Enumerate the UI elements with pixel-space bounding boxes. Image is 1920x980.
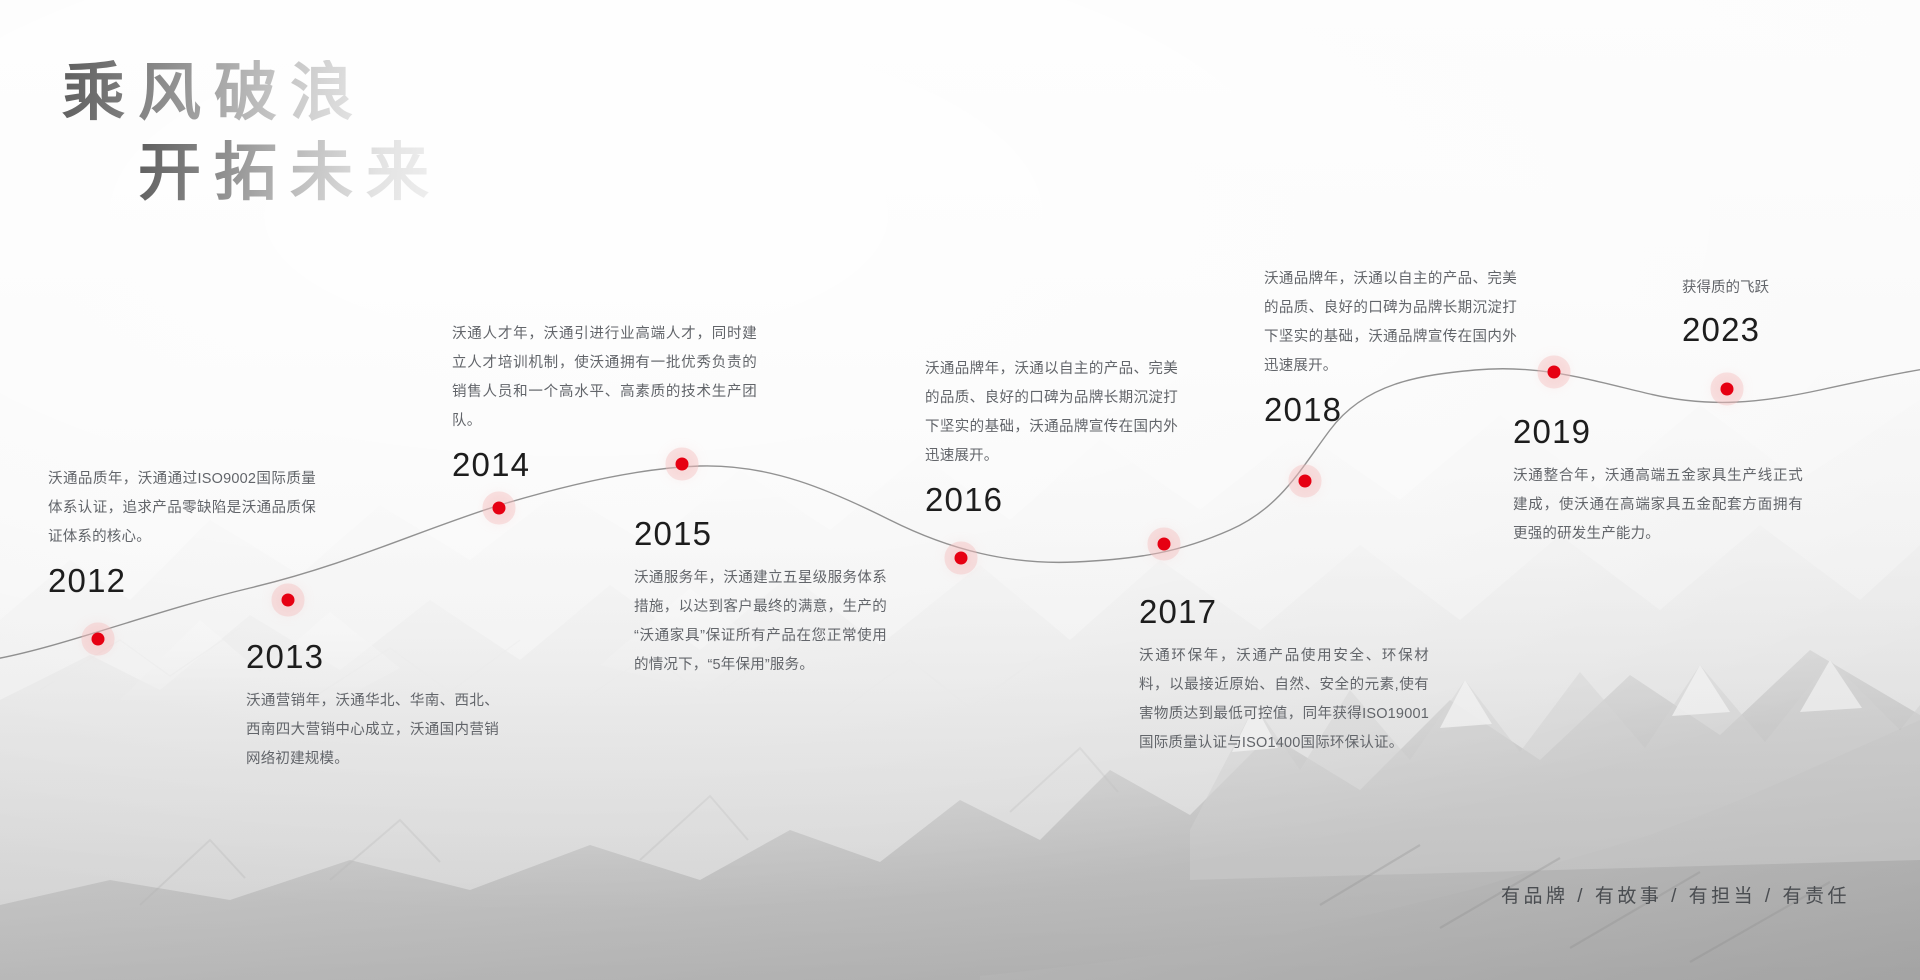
milestone-2019: 2019 沃通整合年，沃通高端五金家具生产线正式建成，使沃通在高端家具五金配套方… bbox=[1513, 415, 1803, 549]
timeline-node-2016[interactable] bbox=[955, 552, 968, 565]
headline-line-1: 乘风破浪 bbox=[62, 60, 442, 126]
milestone-2012: 沃通品质年，沃通通过ISO9002国际质量体系认证，追求产品零缺陷是沃通品质保证… bbox=[48, 465, 316, 597]
milestone-2014-description: 沃通人才年，沃通引进行业高端人才，同时建立人才培训机制，使沃通拥有一批优秀负责的… bbox=[452, 320, 757, 436]
brand-tagline: 有品牌 / 有故事 / 有担当 / 有责任 bbox=[1501, 881, 1850, 908]
milestone-2018: 沃通品牌年，沃通以自主的产品、完美的品质、良好的口碑为品牌长期沉淀打下坚实的基础… bbox=[1264, 265, 1517, 426]
timeline-node-2023[interactable] bbox=[1721, 383, 1734, 396]
timeline-node-2019[interactable] bbox=[1548, 366, 1561, 379]
milestone-2016-year: 2016 bbox=[925, 483, 1178, 516]
milestone-2012-year: 2012 bbox=[48, 564, 316, 597]
milestone-2016: 沃通品牌年，沃通以自主的产品、完美的品质、良好的口碑为品牌长期沉淀打下坚实的基础… bbox=[925, 355, 1178, 516]
milestone-2015: 2015 沃通服务年，沃通建立五星级服务体系措施，以达到客户最终的满意，生产的“… bbox=[634, 517, 887, 680]
milestone-2013: 2013 沃通营销年，沃通华北、华南、西北、西南四大营销中心成立，沃通国内营销网… bbox=[246, 640, 499, 774]
milestone-2016-description: 沃通品牌年，沃通以自主的产品、完美的品质、良好的口碑为品牌长期沉淀打下坚实的基础… bbox=[925, 355, 1178, 471]
milestone-2013-description: 沃通营销年，沃通华北、华南、西北、西南四大营销中心成立，沃通国内营销网络初建规模… bbox=[246, 687, 499, 774]
milestone-2018-year: 2018 bbox=[1264, 393, 1517, 426]
page-title: 乘风破浪 开拓未来 bbox=[62, 60, 442, 206]
timeline-poster: 乘风破浪 开拓未来 沃通品质年，沃通通过ISO9002国际质量体系认证，追求产品… bbox=[0, 0, 1920, 980]
milestone-2023-year: 2023 bbox=[1682, 313, 1902, 346]
milestone-2019-year: 2019 bbox=[1513, 415, 1803, 448]
milestone-2023: 获得质的飞跃 2023 bbox=[1682, 275, 1902, 346]
milestone-2012-description: 沃通品质年，沃通通过ISO9002国际质量体系认证，追求产品零缺陷是沃通品质保证… bbox=[48, 465, 316, 552]
milestone-2017: 2017 沃通环保年，沃通产品使用安全、环保材料，以最接近原始、自然、安全的元素… bbox=[1139, 595, 1429, 758]
timeline-node-2018[interactable] bbox=[1299, 475, 1312, 488]
headline-line-2: 开拓未来 bbox=[138, 140, 442, 206]
milestone-2017-description: 沃通环保年，沃通产品使用安全、环保材料，以最接近原始、自然、安全的元素,使有害物… bbox=[1139, 642, 1429, 758]
timeline-node-2012[interactable] bbox=[92, 633, 105, 646]
milestone-2014-year: 2014 bbox=[452, 448, 757, 481]
milestone-2019-description: 沃通整合年，沃通高端五金家具生产线正式建成，使沃通在高端家具五金配套方面拥有更强… bbox=[1513, 462, 1803, 549]
milestone-2015-year: 2015 bbox=[634, 517, 887, 550]
milestone-2013-year: 2013 bbox=[246, 640, 499, 673]
milestone-2017-year: 2017 bbox=[1139, 595, 1429, 628]
milestone-2015-description: 沃通服务年，沃通建立五星级服务体系措施，以达到客户最终的满意，生产的“沃通家具”… bbox=[634, 564, 887, 680]
milestone-2018-description: 沃通品牌年，沃通以自主的产品、完美的品质、良好的口碑为品牌长期沉淀打下坚实的基础… bbox=[1264, 265, 1517, 381]
milestone-2014: 沃通人才年，沃通引进行业高端人才，同时建立人才培训机制，使沃通拥有一批优秀负责的… bbox=[452, 320, 757, 481]
timeline-node-2014[interactable] bbox=[493, 502, 506, 515]
milestone-2023-description: 获得质的飞跃 bbox=[1682, 275, 1902, 303]
timeline-node-2017[interactable] bbox=[1158, 538, 1171, 551]
